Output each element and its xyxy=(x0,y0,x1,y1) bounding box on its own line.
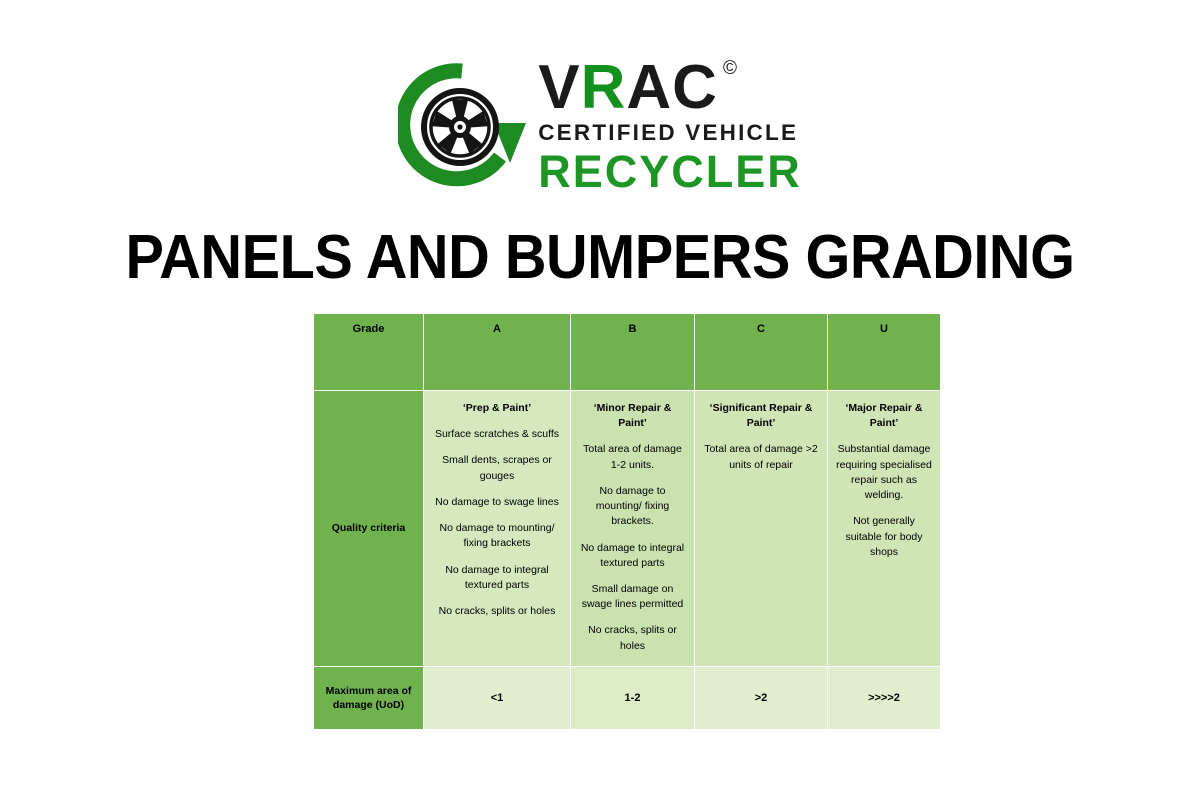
criteria-line: Not generally suitable for body shops xyxy=(836,514,932,560)
poster-page: VRAC© CERTIFIED VEHICLE RECYCLER PANELS … xyxy=(0,0,1200,800)
logo-recycler-text: RECYCLER xyxy=(538,149,802,194)
recycling-wheel-icon xyxy=(398,61,526,189)
criteria-line: Small dents, scrapes or gouges xyxy=(432,453,562,483)
cell-max-damage-c: >2 xyxy=(695,666,828,729)
row-label-max-damage: Maximum area of damage (UoD) xyxy=(314,666,424,729)
criteria-line: Small damage on swage lines permitted xyxy=(579,582,686,612)
criteria-line: ‘Minor Repair & Paint’ xyxy=(579,401,686,431)
copyright-icon: © xyxy=(723,59,738,78)
cell-criteria-a: ‘Prep & Paint’Surface scratches & scuffs… xyxy=(424,391,571,667)
logo-vrac-text: VRAC© xyxy=(538,57,802,115)
criteria-line: Substantial damage requiring specialised… xyxy=(836,442,932,503)
table-header-row: Grade A B C U xyxy=(314,314,941,391)
cell-max-damage-b: 1-2 xyxy=(571,666,695,729)
cell-criteria-u: ‘Major Repair & Paint’Substantial damage… xyxy=(828,391,941,667)
page-title: PANELS AND BUMPERS GRADING xyxy=(42,222,1158,293)
criteria-line: No cracks, splits or holes xyxy=(579,623,686,653)
criteria-line: ‘Prep & Paint’ xyxy=(432,401,562,416)
logo-letter-v: V xyxy=(538,57,580,119)
cell-max-damage-u: >>>>2 xyxy=(828,666,941,729)
logo-letters-ac: AC xyxy=(626,57,718,119)
criteria-line: No damage to integral textured parts xyxy=(579,541,686,571)
criteria-line: No damage to swage lines xyxy=(432,495,562,510)
criteria-line: Total area of damage >2 units of repair xyxy=(703,442,819,472)
header-grade-c: C xyxy=(695,314,828,391)
criteria-line: No cracks, splits or holes xyxy=(432,604,562,619)
criteria-line: No damage to mounting/ fixing brackets xyxy=(432,521,562,551)
logo-inner: VRAC© CERTIFIED VEHICLE RECYCLER xyxy=(398,55,802,195)
cell-max-damage-a: <1 xyxy=(424,666,571,729)
criteria-line: Surface scratches & scuffs xyxy=(432,427,562,442)
header-grade-u: U xyxy=(828,314,941,391)
table-row-max-damage: Maximum area of damage (UoD) <1 1-2 >2 >… xyxy=(314,666,941,729)
criteria-line: ‘Major Repair & Paint’ xyxy=(836,401,932,431)
vrac-logo: VRAC© CERTIFIED VEHICLE RECYCLER xyxy=(0,52,1200,197)
criteria-line: No damage to integral textured parts xyxy=(432,563,562,593)
logo-wordmark: VRAC© CERTIFIED VEHICLE RECYCLER xyxy=(538,55,802,195)
header-grade-label: Grade xyxy=(314,314,424,391)
row-label-quality-criteria: Quality criteria xyxy=(314,391,424,667)
cell-criteria-c: ‘Significant Repair & Paint’Total area o… xyxy=(695,391,828,667)
criteria-line: ‘Significant Repair & Paint’ xyxy=(703,401,819,431)
logo-letter-r: R xyxy=(581,57,627,119)
cell-criteria-b: ‘Minor Repair & Paint’Total area of dama… xyxy=(571,391,695,667)
criteria-line: Total area of damage 1-2 units. xyxy=(579,442,686,472)
header-grade-a: A xyxy=(424,314,571,391)
grading-table: Grade A B C U Quality criteria ‘Prep & P… xyxy=(313,313,941,730)
header-grade-b: B xyxy=(571,314,695,391)
table-row-quality-criteria: Quality criteria ‘Prep & Paint’Surface s… xyxy=(314,391,941,667)
logo-tagline: CERTIFIED VEHICLE xyxy=(538,122,802,145)
criteria-line: No damage to mounting/ fixing brackets. xyxy=(579,484,686,530)
